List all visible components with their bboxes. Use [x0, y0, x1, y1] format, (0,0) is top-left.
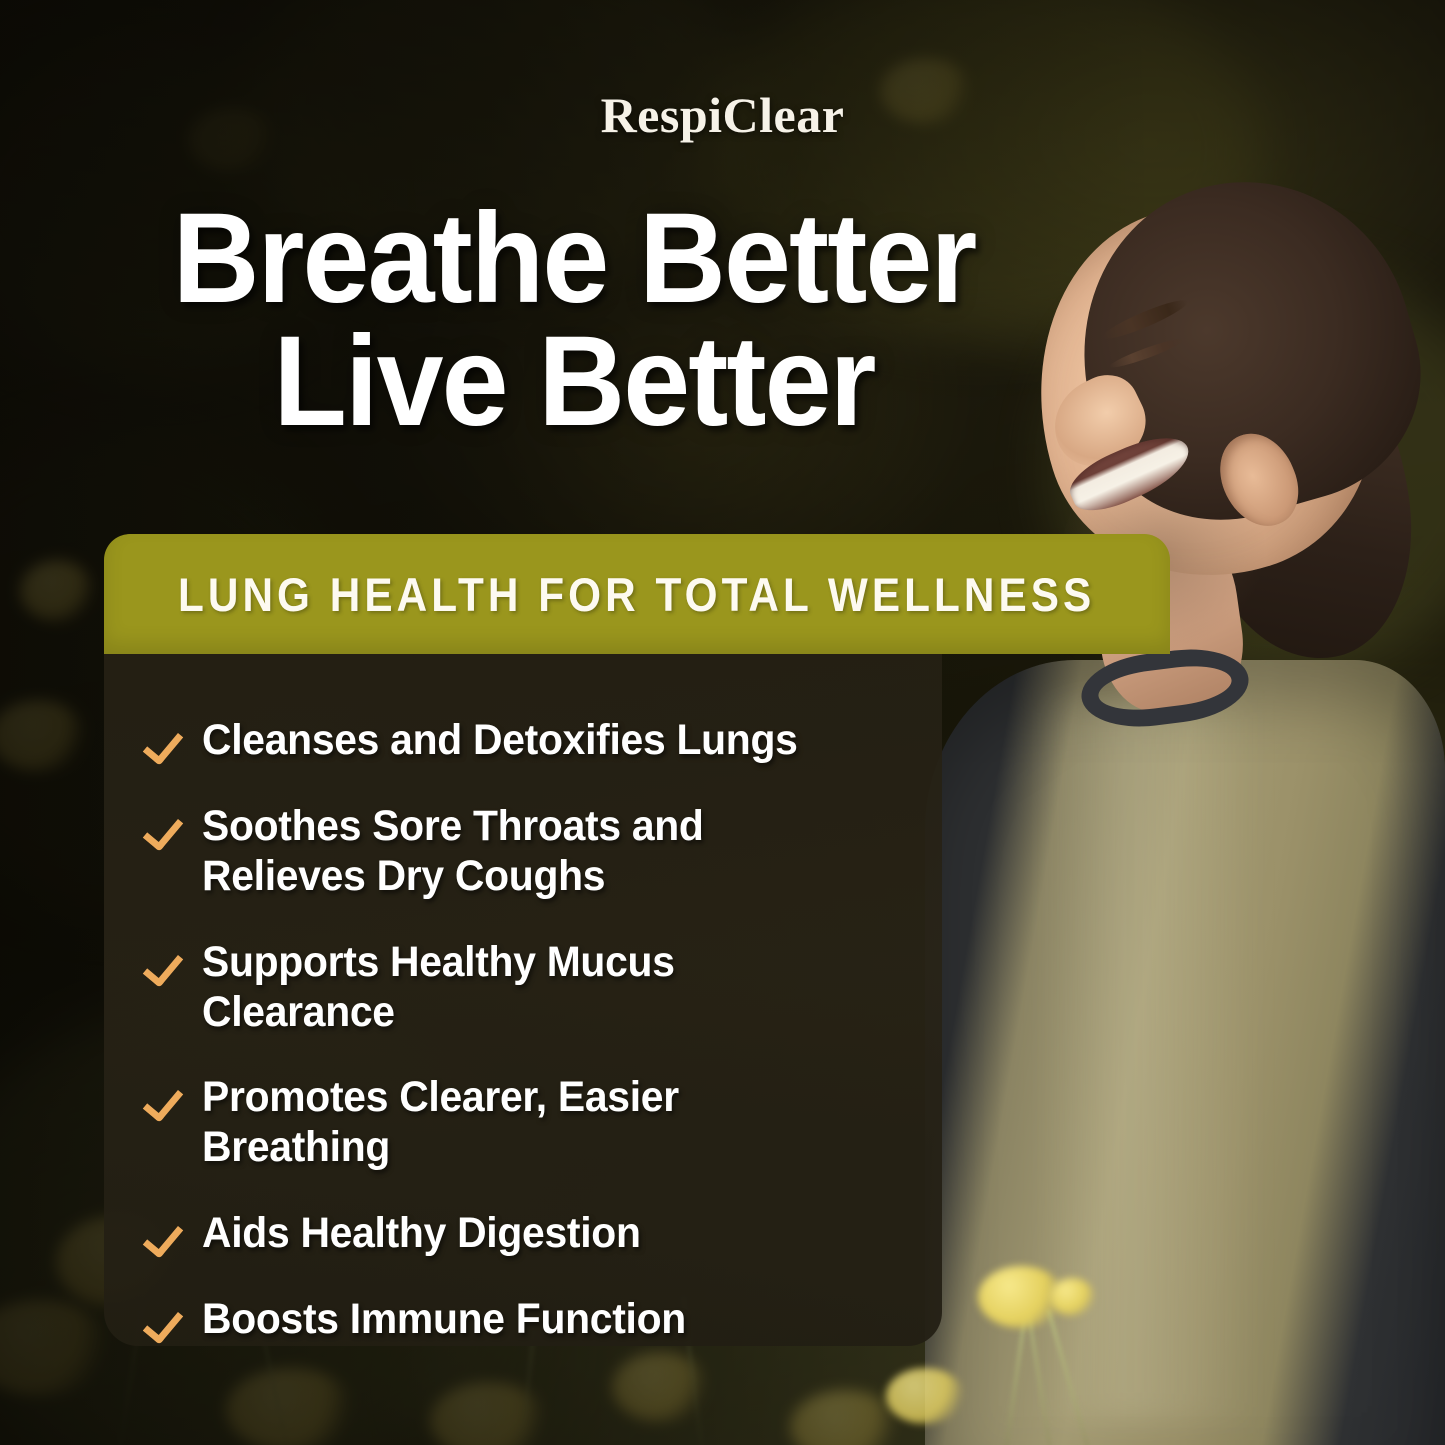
check-icon	[146, 1299, 180, 1343]
ad-content: RespiClear Breathe Better Live Better LU…	[0, 0, 1445, 1445]
headline-line-2: Live Better	[95, 321, 1054, 444]
list-item: Boosts Immune Function	[146, 1295, 912, 1345]
check-icon	[146, 720, 180, 764]
benefit-label: Cleanses and Detoxifies Lungs	[202, 716, 798, 766]
product-ad-banner: RespiClear Breathe Better Live Better LU…	[0, 0, 1445, 1445]
benefits-panel: Cleanses and Detoxifies Lungs Soothes So…	[104, 654, 942, 1346]
page-title: Breathe Better Live Better	[95, 198, 1054, 444]
brand-logo: RespiClear	[0, 86, 1445, 144]
tagline-text: LUNG HEALTH FOR TOTAL WELLNESS	[178, 567, 1095, 622]
benefit-label: Soothes Sore Throats and Relieves Dry Co…	[202, 802, 877, 902]
benefit-label: Boosts Immune Function	[202, 1295, 686, 1345]
list-item: Cleanses and Detoxifies Lungs	[146, 716, 912, 766]
benefit-label: Promotes Clearer, Easier Breathing	[202, 1073, 877, 1173]
benefit-label: Supports Healthy Mucus Clearance	[202, 938, 877, 1038]
check-icon	[146, 1213, 180, 1257]
check-icon	[146, 806, 180, 850]
list-item: Supports Healthy Mucus Clearance	[146, 938, 912, 1038]
check-icon	[146, 942, 180, 986]
list-item: Promotes Clearer, Easier Breathing	[146, 1073, 912, 1173]
list-item: Aids Healthy Digestion	[146, 1209, 912, 1259]
headline-line-1: Breathe Better	[173, 187, 976, 330]
benefit-label: Aids Healthy Digestion	[202, 1209, 641, 1259]
tagline-banner: LUNG HEALTH FOR TOTAL WELLNESS	[104, 534, 1170, 654]
list-item: Soothes Sore Throats and Relieves Dry Co…	[146, 802, 912, 902]
check-icon	[146, 1077, 180, 1121]
